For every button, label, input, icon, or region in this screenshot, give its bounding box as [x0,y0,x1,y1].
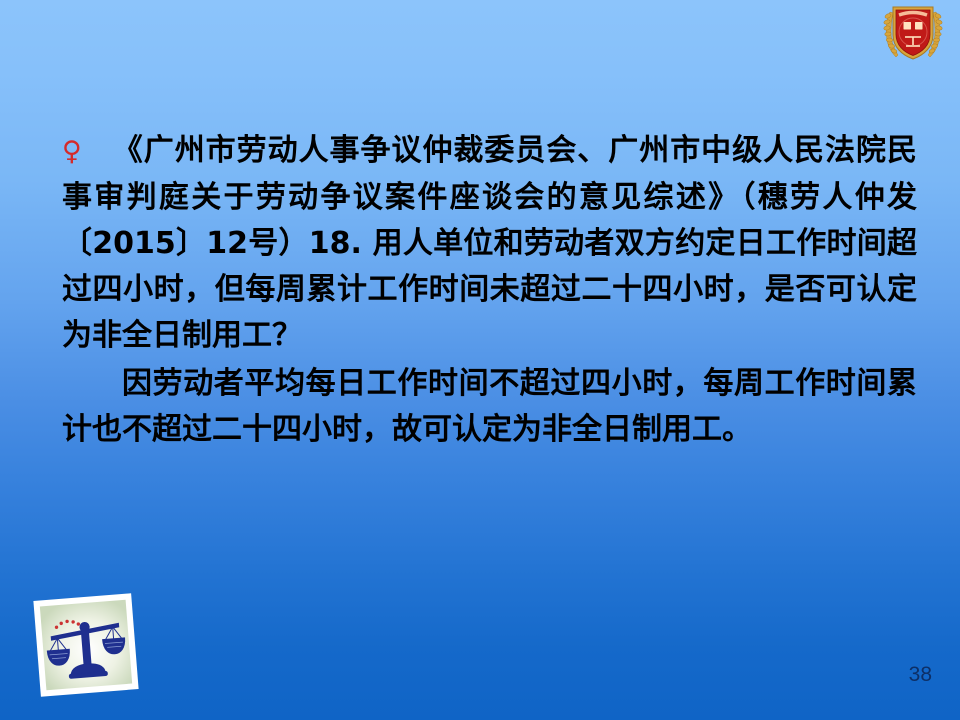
quote-paragraph: ♀《广州市劳动人事争议仲裁委员会、广州市中级人民法院民事审判庭关于劳动争议案件座… [62,128,917,359]
slide-body-text: ♀《广州市劳动人事争议仲裁委员会、广州市中级人民法院民事审判庭关于劳动争议案件座… [62,128,917,453]
slide-canvas: ♀《广州市劳动人事争议仲裁委员会、广州市中级人民法院民事审判庭关于劳动争议案件座… [0,0,960,720]
answer-paragraph: 因劳动者平均每日工作时间不超过四小时，每周工作时间累计也不超过二十四小时，故可认… [62,361,917,453]
female-symbol-bullet-icon: ♀ [62,136,113,167]
balance-scales-image [32,592,139,698]
arbitration-emblem-icon [880,2,946,64]
page-number: 38 [909,664,932,685]
quote-paragraph-text: 《广州市劳动人事争议仲裁委员会、广州市中级人民法院民事审判庭关于劳动争议案件座谈… [62,133,917,353]
answer-paragraph-text: 因劳动者平均每日工作时间不超过四小时，每周工作时间累计也不超过二十四小时，故可认… [62,366,917,447]
